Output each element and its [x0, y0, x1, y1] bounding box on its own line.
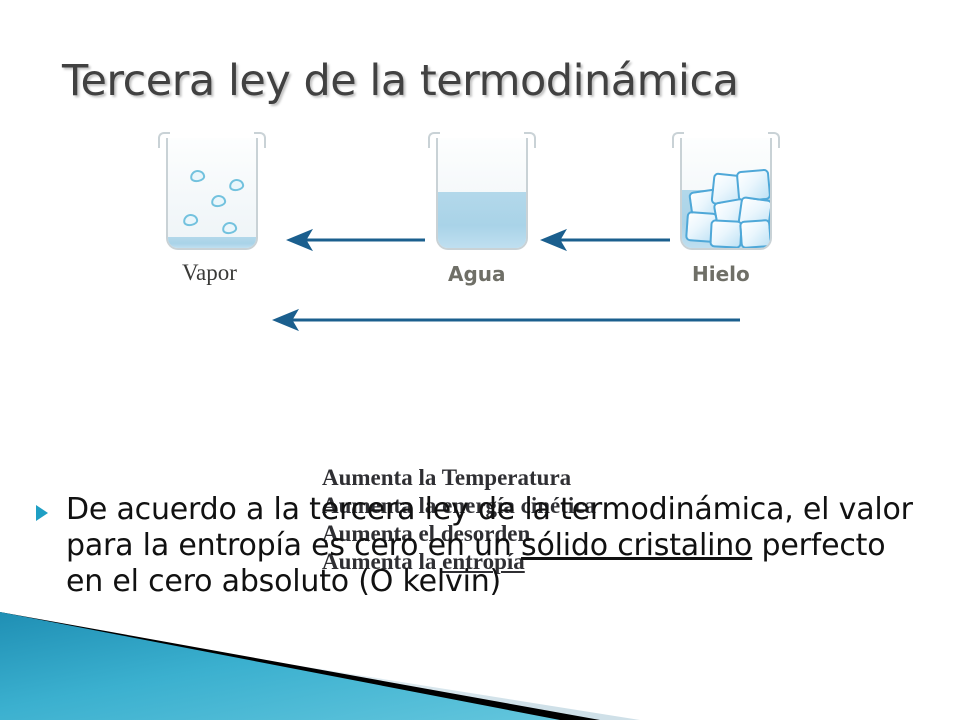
- beaker-glass: [166, 138, 258, 250]
- beaker-vapor: [158, 132, 266, 250]
- beaker-hielo: [672, 132, 780, 250]
- slide-root: { "slide": { "title": "Tercera ley de la…: [0, 0, 960, 720]
- bullet-triangle-icon: [36, 505, 48, 521]
- vapor-molecule-icon: [210, 194, 227, 208]
- water-layer: [438, 192, 526, 248]
- vapor-molecule-icon: [189, 169, 206, 183]
- page-title: Tercera ley de la termodinámica: [62, 56, 738, 106]
- beaker-label-vapor: Vapor: [182, 260, 237, 286]
- bullet-paragraph: De acuerdo a la tercera ley de la termod…: [66, 492, 913, 599]
- bullet-item: De acuerdo a la tercera ley de la termod…: [30, 492, 930, 600]
- bullet-text-underlined: sólido cristalino: [521, 528, 752, 563]
- water-layer: [168, 237, 256, 248]
- statement-item: Aumenta la Temperatura: [322, 464, 596, 492]
- phase-change-diagram: Vapor Agua Hielo: [0, 120, 960, 470]
- beaker-label-hielo: Hielo: [692, 262, 750, 286]
- beaker-glass: [436, 138, 528, 250]
- beaker-label-agua: Agua: [448, 262, 506, 286]
- ice-cube-icon: [739, 219, 772, 249]
- corner-deco-svg: [0, 600, 960, 720]
- vapor-molecule-icon: [221, 221, 238, 235]
- body-content: De acuerdo a la tercera ley de la termod…: [30, 492, 930, 600]
- beaker-glass: [680, 138, 772, 250]
- slide-corner-decoration: [0, 600, 960, 720]
- vapor-molecule-icon: [228, 178, 245, 192]
- vapor-molecule-icon: [182, 213, 199, 227]
- beaker-agua: [428, 132, 536, 250]
- ice-cube-icon: [709, 219, 742, 249]
